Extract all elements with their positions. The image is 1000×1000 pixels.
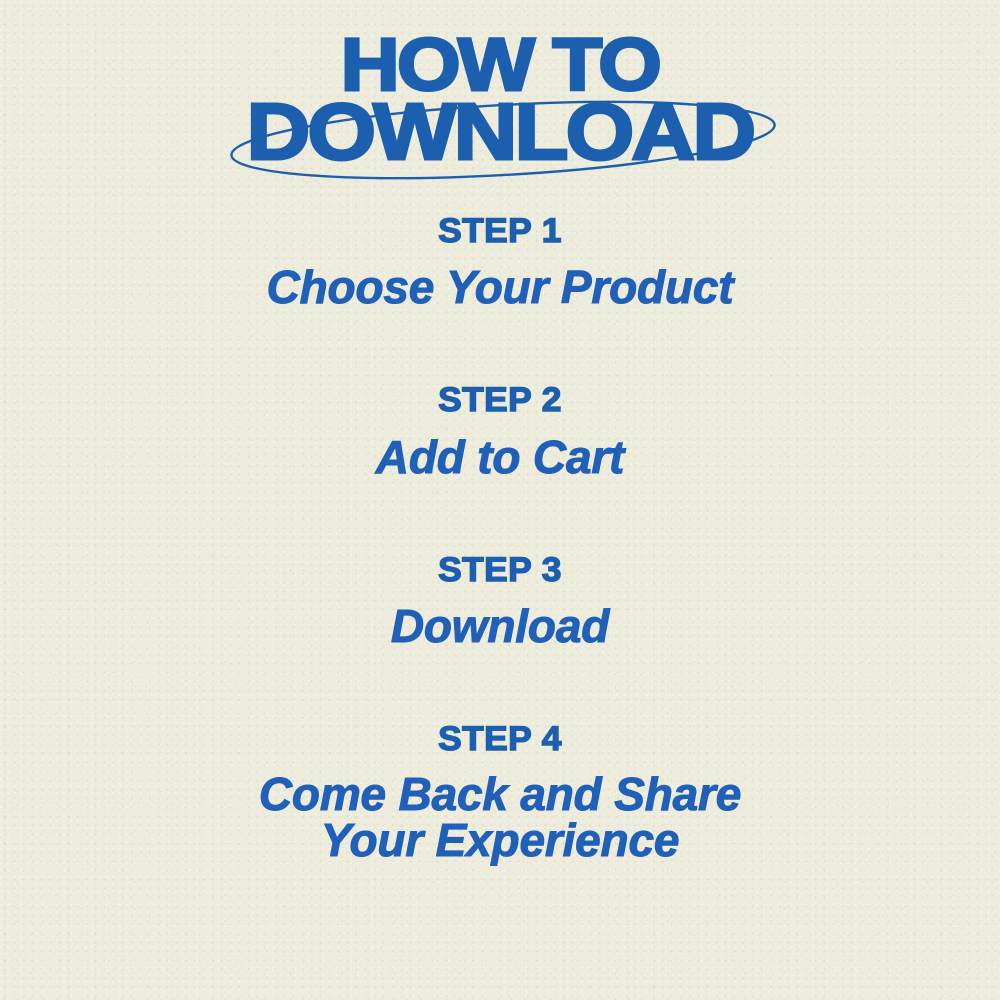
header-title-block: HOW TO DOWNLOAD <box>0 34 1000 165</box>
step-block-1: STEP 1 Choose Your Product <box>0 212 1000 311</box>
step-label-3: STEP 3 <box>0 551 1000 589</box>
step-title-2-line-1: Add to Cart <box>0 434 1000 481</box>
step-title-1: Choose Your Product <box>0 264 1000 311</box>
step-label-1: STEP 1 <box>0 212 1000 250</box>
step-title-4-line-1: Come Back and Share <box>0 772 1000 817</box>
step-block-4: STEP 4 Come Back and Share Your Experien… <box>0 720 1000 862</box>
step-label-4: STEP 4 <box>0 720 1000 758</box>
step-title-4: Come Back and Share Your Experience <box>0 772 1000 862</box>
step-label-2: STEP 2 <box>0 381 1000 419</box>
step-title-3-line-1: Download <box>0 603 1000 650</box>
step-block-3: STEP 3 Download <box>0 551 1000 650</box>
step-block-2: STEP 2 Add to Cart <box>0 381 1000 480</box>
step-title-4-line-2: Your Experience <box>0 818 1000 863</box>
steps-list: STEP 1 Choose Your Product STEP 2 Add to… <box>0 212 1000 863</box>
step-title-1-line-1: Choose Your Product <box>0 264 1000 311</box>
step-title-3: Download <box>0 603 1000 650</box>
page-title-line-2: DOWNLOAD <box>0 98 1000 165</box>
step-title-2: Add to Cart <box>0 434 1000 481</box>
